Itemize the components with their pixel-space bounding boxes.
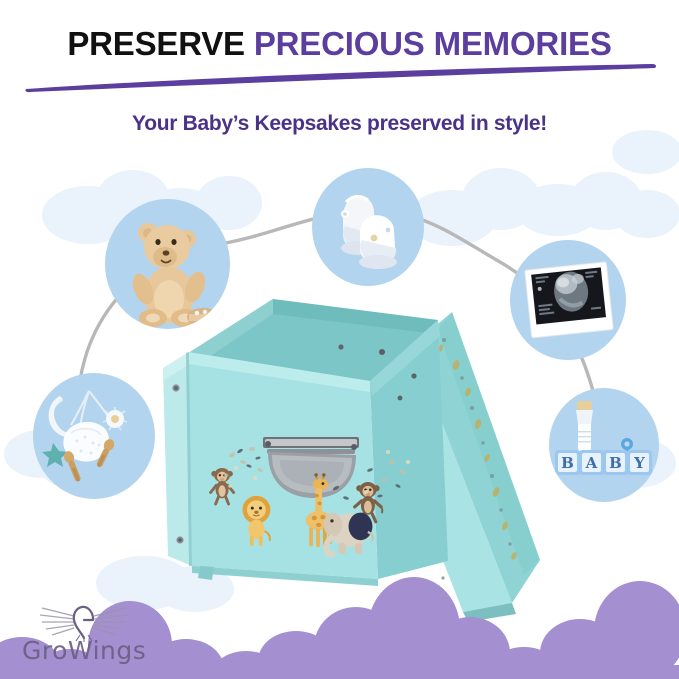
- baby-mobile-icon: [33, 373, 155, 499]
- header: PRESERVE PRECIOUS MEMORIES Your Baby’s K…: [0, 0, 679, 60]
- title-part-two: PRECIOUS MEMORIES: [254, 25, 612, 62]
- baby-blocks-icon: B A B Y: [549, 388, 659, 502]
- ultrasound-icon: [510, 240, 626, 360]
- badge-ultrasound[interactable]: [510, 240, 626, 360]
- block-letter-b: B: [561, 454, 574, 472]
- badge-baby-blocks[interactable]: B A B Y: [549, 388, 659, 502]
- block-letter-b2: B: [609, 454, 622, 472]
- badge-baby-mobile[interactable]: [33, 373, 155, 499]
- teddy-bear-icon: [105, 199, 230, 329]
- baby-shoes-icon: [312, 168, 424, 286]
- block-letter-a: A: [585, 454, 598, 472]
- brand-name: GroWings: [22, 636, 146, 665]
- badge-baby-shoes[interactable]: [312, 168, 424, 286]
- badge-teddy-bear[interactable]: [105, 199, 230, 329]
- brand-logo: GroWings: [22, 602, 146, 665]
- title-underline-swoosh: [24, 62, 658, 94]
- infographic-canvas: PRESERVE PRECIOUS MEMORIES Your Baby’s K…: [0, 0, 679, 679]
- title-part-one: PRESERVE: [67, 25, 245, 62]
- page-title: PRESERVE PRECIOUS MEMORIES: [0, 0, 679, 60]
- page-subtitle: Your Baby’s Keepsakes preserved in style…: [0, 112, 679, 136]
- block-letter-y: Y: [633, 454, 645, 472]
